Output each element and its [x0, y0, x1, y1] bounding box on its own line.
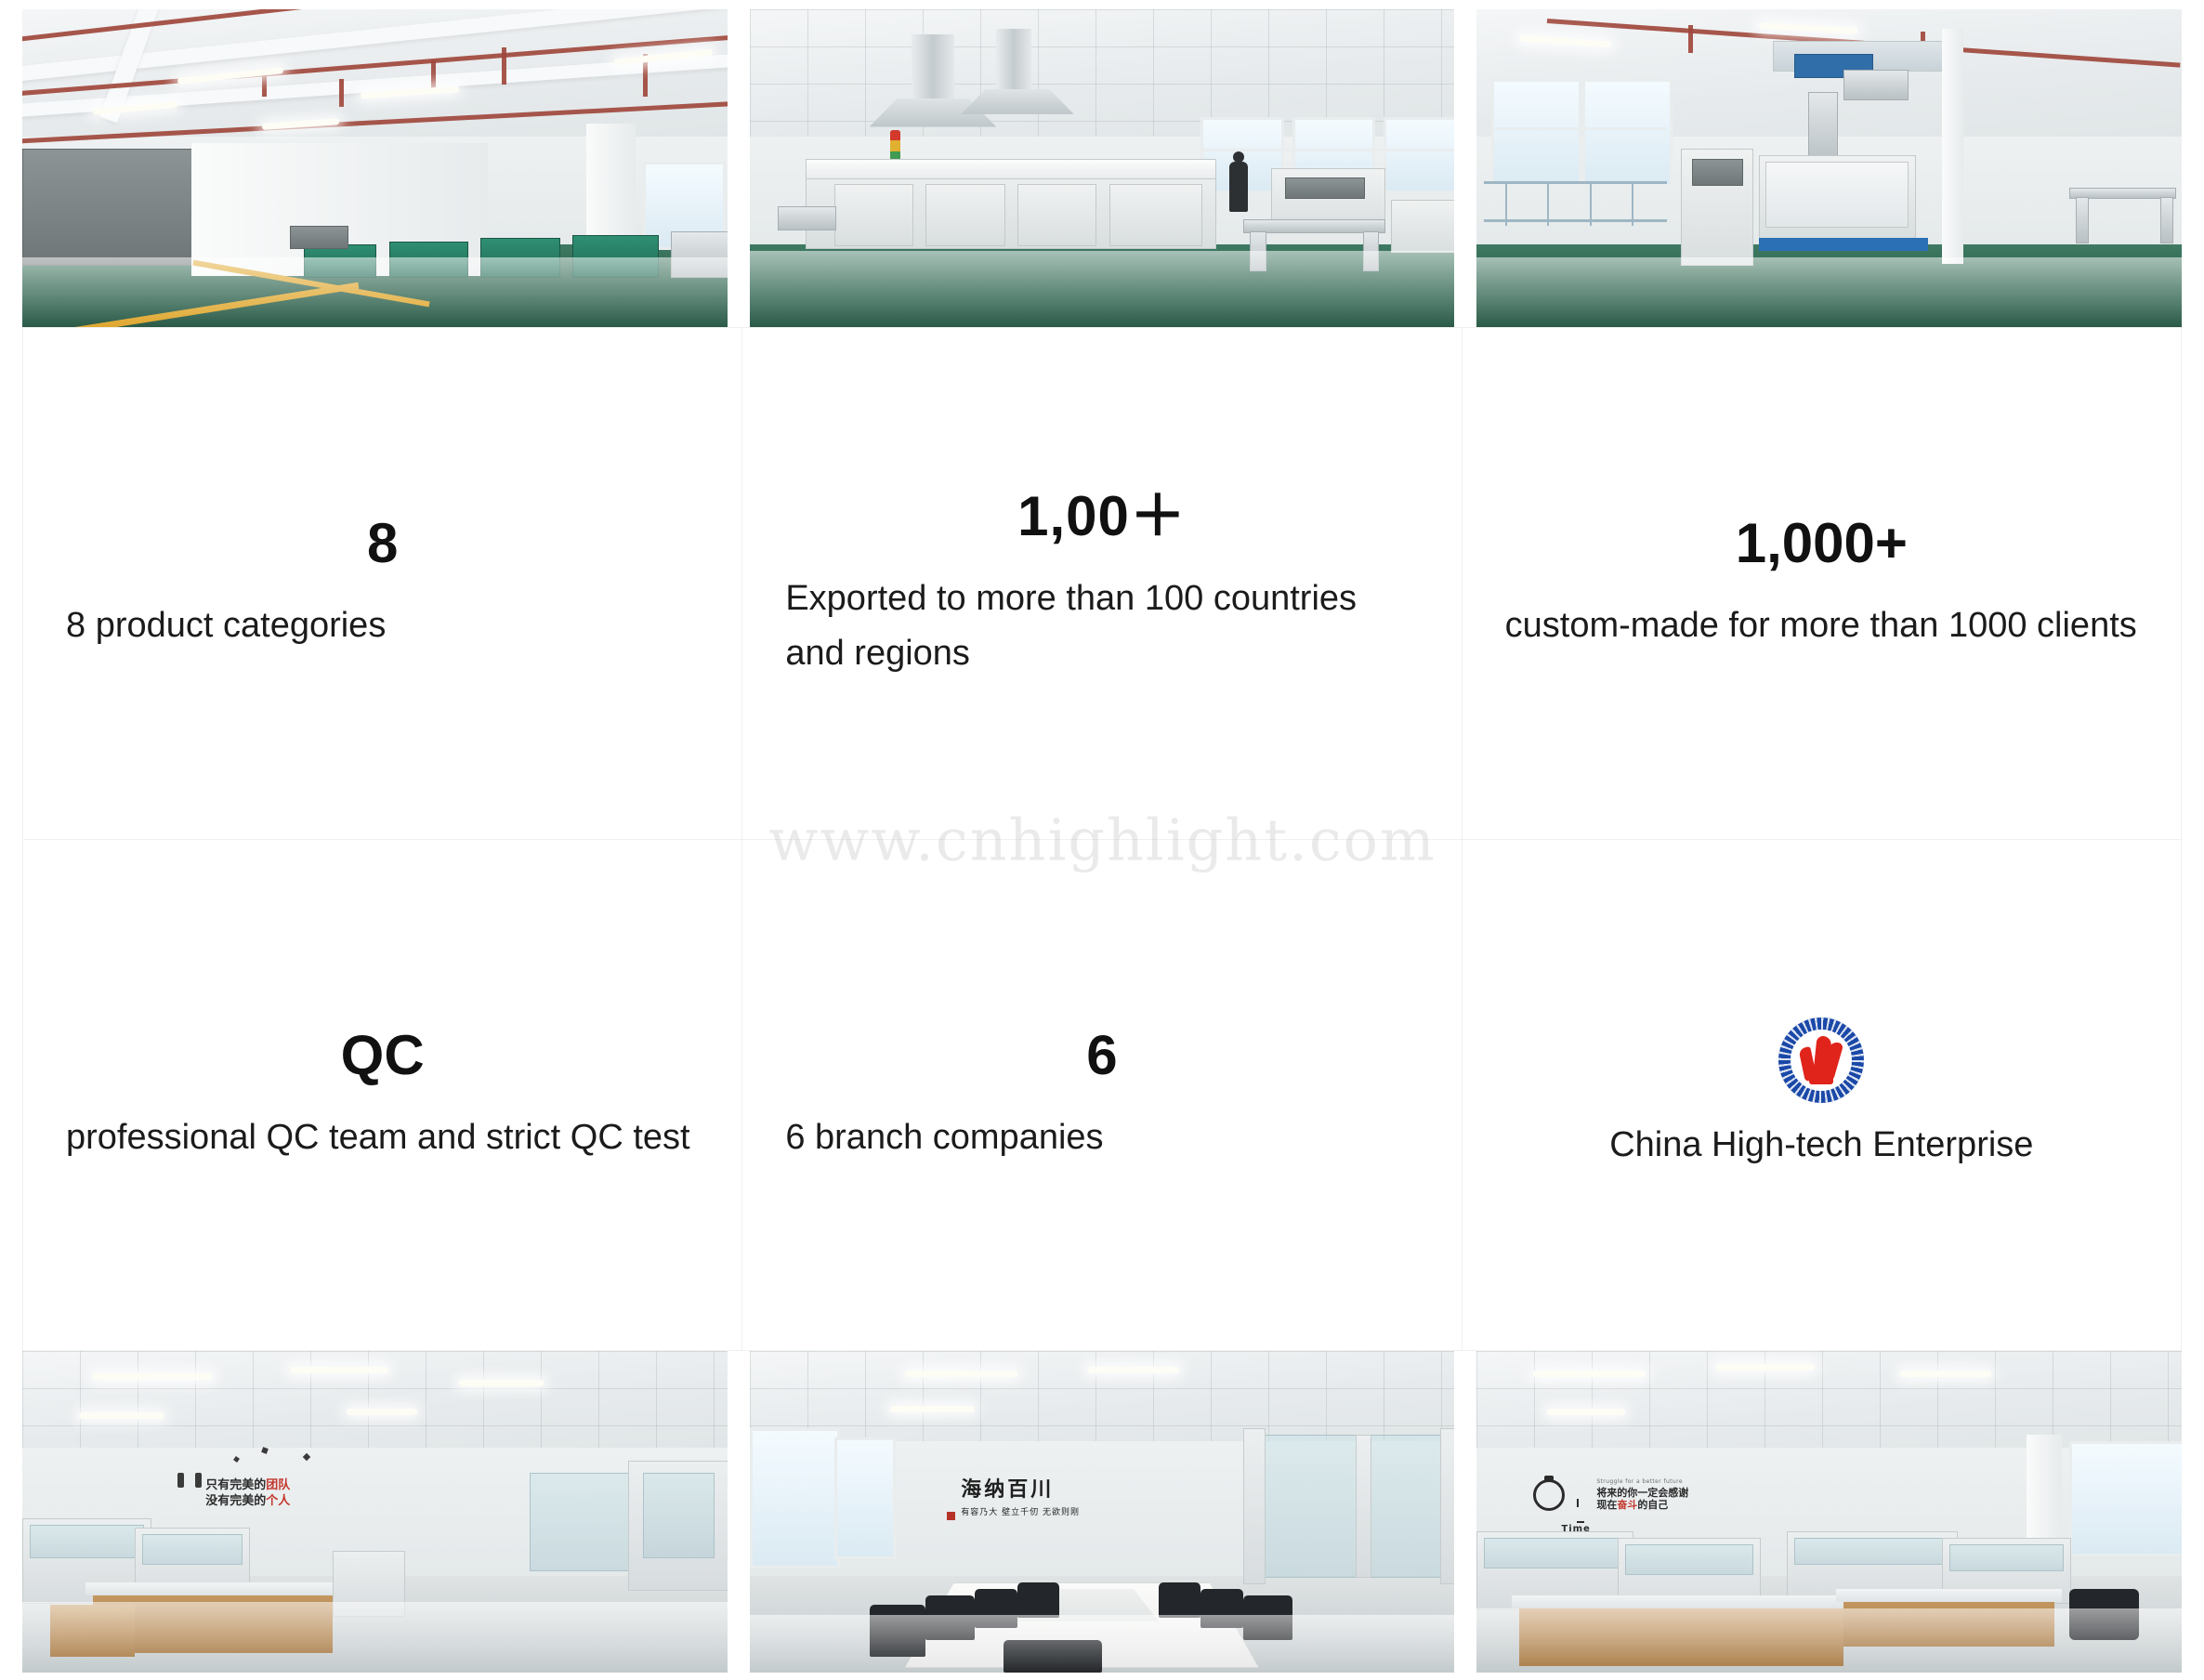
stat-label-qc-team: professional QC team and strict QC test — [66, 1110, 690, 1165]
photo-open-plan-office: Struggle for a better future 将来的你一定会感谢 现… — [1476, 1351, 2182, 1673]
stat-cell-custom-made-clients: 1,000+ custom-made for more than 1000 cl… — [1463, 328, 2182, 840]
stat-cell-qc-team: QC professional QC team and strict QC te… — [23, 840, 742, 1352]
stat-label-exported-countries: Exported to more than 100 countries and … — [785, 571, 1418, 681]
stat-cell-china-high-tech-enterprise: China High-tech Enterprise — [1463, 840, 2182, 1352]
photo-row-factory — [0, 0, 2204, 327]
stat-cell-exported-countries: 1,00＋ Exported to more than 100 countrie… — [742, 328, 1462, 840]
stat-value-exported-countries: 1,00＋ — [1017, 486, 1187, 547]
stat-cell-product-categories: 8 8 product categories — [23, 328, 742, 840]
stat-label-branch-companies: 6 branch companies — [785, 1110, 1103, 1165]
company-profile-page: 8 8 product categories 1,00＋ Exported to… — [0, 0, 2204, 1680]
photo-coating-machine-workshop — [1476, 9, 2182, 327]
stat-label-custom-made-clients: custom-made for more than 1000 clients — [1505, 598, 2137, 653]
wall-decal-time: Struggle for a better future 将来的你一定会感谢 现… — [1596, 1479, 1688, 1510]
stat-value-branch-companies: 6 — [1086, 1025, 1117, 1086]
stat-value-product-categories: 8 — [367, 513, 398, 574]
stat-value-qc-team: QC — [341, 1025, 425, 1086]
wall-decal-team: 只有完美的团队 没有完美的个人 — [205, 1479, 290, 1507]
stat-cell-branch-companies: 6 6 branch companies — [742, 840, 1462, 1352]
photo-office-reception-area: 只有完美的团队 没有完美的个人 — [22, 1351, 728, 1673]
china-high-tech-torch-logo-icon — [1778, 1017, 1864, 1103]
company-stats-grid: 8 8 product categories 1,00＋ Exported to… — [22, 327, 2182, 1351]
stat-label-china-high-tech-enterprise: China High-tech Enterprise — [1609, 1118, 2033, 1173]
stat-value-custom-made-clients: 1,000+ — [1736, 513, 1908, 574]
photo-reflow-soldering-production-line — [750, 9, 1455, 327]
photo-factory-workshop-production-line — [22, 9, 728, 327]
photo-meeting-room: 海纳百川 有容乃大 壁立千仞 无欲则刚 — [750, 1351, 1455, 1673]
photo-row-office: 只有完美的团队 没有完美的个人 — [0, 1351, 2204, 1680]
stat-label-product-categories: 8 product categories — [66, 598, 386, 653]
wall-calligraphy: 海纳百川 有容乃大 壁立千仞 无欲则刚 — [961, 1473, 1080, 1517]
